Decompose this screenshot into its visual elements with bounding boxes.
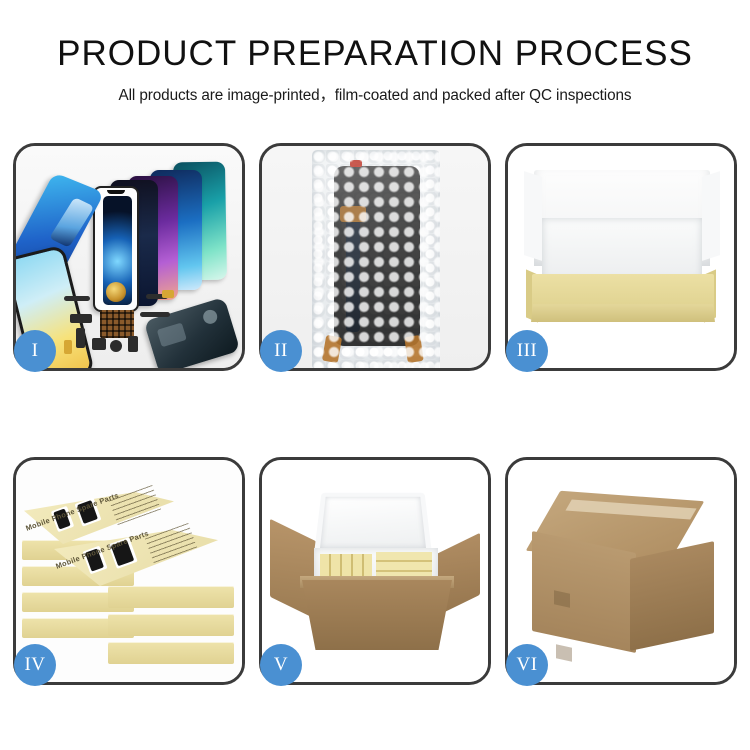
small-part-icon xyxy=(70,314,92,323)
retail-box xyxy=(108,614,234,636)
step-badge-3: III xyxy=(506,330,548,372)
step-image-1 xyxy=(16,146,242,368)
bubble-wrap-bag xyxy=(312,150,440,368)
small-part-icon xyxy=(128,336,138,352)
step-panel-5: V xyxy=(259,457,491,685)
retail-box xyxy=(108,642,234,664)
speaker-icon xyxy=(110,340,122,352)
bubble-texture-overlay xyxy=(312,150,440,368)
chip-array-icon xyxy=(100,310,134,338)
step-panel-3: III xyxy=(505,143,737,371)
flex-cable-icon xyxy=(140,312,170,317)
gold-contact-icon xyxy=(64,340,72,354)
step-image-4: Mobile Phone Spare Parts Mobile Phone Sp… xyxy=(16,460,242,682)
carton-body-icon xyxy=(302,580,452,650)
step-image-5 xyxy=(262,460,488,682)
flex-cable-icon xyxy=(64,296,90,301)
carton-front-face xyxy=(532,531,636,653)
step-image-6 xyxy=(508,460,734,682)
page-subtitle: All products are image-printed，film-coat… xyxy=(0,83,750,105)
foam-lid-icon xyxy=(314,493,432,554)
step-badge-5: V xyxy=(260,644,302,686)
carton-side-face xyxy=(630,541,714,651)
step-badge-6: VI xyxy=(506,644,548,686)
retail-box xyxy=(108,586,234,608)
phone-notch xyxy=(107,190,125,194)
spare-parts-group xyxy=(62,284,212,362)
steps-grid: I II xyxy=(13,143,737,688)
header: PRODUCT PREPARATION PROCESS All products… xyxy=(0,0,750,105)
retail-box-stack: Mobile Phone Spare Parts Mobile Phone Sp… xyxy=(22,478,240,674)
sealed-carton xyxy=(532,496,714,646)
camera-module-icon xyxy=(106,282,126,302)
step-badge-1: I xyxy=(14,330,56,372)
small-part-icon xyxy=(92,338,106,350)
foam-sheet-icon xyxy=(542,218,702,280)
step-image-3 xyxy=(508,146,734,368)
page-title: PRODUCT PREPARATION PROCESS xyxy=(0,34,750,74)
step-panel-4: Mobile Phone Spare Parts Mobile Phone Sp… xyxy=(13,457,245,685)
step-image-2 xyxy=(262,146,488,368)
step-panel-2: II xyxy=(259,143,491,371)
step-badge-4: IV xyxy=(14,644,56,686)
product-preparation-infographic: PRODUCT PREPARATION PROCESS All products… xyxy=(0,0,750,750)
carton-tab-icon xyxy=(556,644,572,661)
small-part-icon xyxy=(76,328,85,348)
gold-connector-icon xyxy=(162,290,174,298)
step-panel-6: VI xyxy=(505,457,737,685)
yellow-box-front-icon xyxy=(531,304,715,322)
step-badge-2: II xyxy=(260,330,302,372)
step-panel-1: I xyxy=(13,143,245,371)
